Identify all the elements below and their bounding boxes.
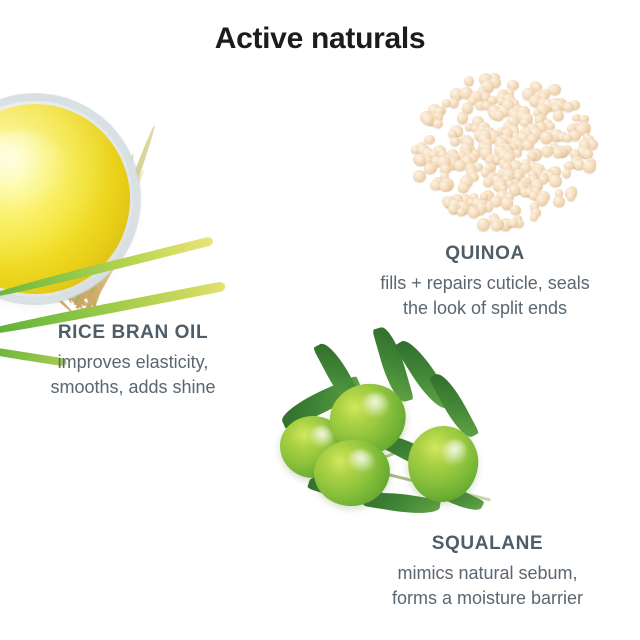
quinoa-seed-icon xyxy=(548,84,561,96)
page-title: Active naturals xyxy=(0,22,640,56)
quinoa-seed-icon xyxy=(464,76,474,85)
quinoa-image xyxy=(405,68,600,233)
quinoa-seed-icon xyxy=(483,177,494,188)
quinoa-seed-icon xyxy=(424,135,434,145)
ingredient-description-line-1: fills + repairs cuticle, seals xyxy=(345,271,625,296)
quinoa-seed-icon xyxy=(540,131,553,144)
quinoa-seed-icon xyxy=(413,170,426,182)
squalane-olive-image xyxy=(268,348,500,534)
quinoa-seed-icon xyxy=(562,169,571,178)
ingredient-description-line-1: mimics natural sebum, xyxy=(345,561,630,586)
ingredient-block-squalane: SQUALANE mimics natural sebum, forms a m… xyxy=(345,533,630,610)
quinoa-seed-icon xyxy=(494,110,504,120)
quinoa-seed-icon xyxy=(553,196,566,208)
ingredient-name-squalane: SQUALANE xyxy=(345,533,630,556)
quinoa-seed-icon xyxy=(510,205,521,215)
quinoa-seed-icon xyxy=(563,102,574,112)
quinoa-seed-icon xyxy=(527,151,537,160)
quinoa-seed-icon xyxy=(541,146,553,157)
quinoa-seed-icon xyxy=(458,182,469,192)
poster-canvas: Active naturals RICE BRAN OIL improves e… xyxy=(0,0,640,640)
ingredient-description-line-2: smooths, adds shine xyxy=(8,375,258,400)
quinoa-seed-icon xyxy=(553,148,563,157)
quinoa-seed-icon xyxy=(583,160,596,174)
quinoa-seed-icon xyxy=(450,137,460,146)
ingredient-description-line-2: forms a moisture barrier xyxy=(345,586,630,611)
ingredient-description-line-2: the look of split ends xyxy=(345,296,625,321)
quinoa-seed-icon xyxy=(457,208,465,216)
ingredient-name-rice-bran-oil: RICE BRAN OIL xyxy=(8,322,258,345)
quinoa-seed-icon xyxy=(439,181,451,191)
quinoa-seed-icon xyxy=(567,193,575,200)
quinoa-seed-icon xyxy=(433,119,443,128)
quinoa-seed-icon xyxy=(549,175,562,187)
quinoa-seed-icon xyxy=(563,134,572,143)
quinoa-seed-icon xyxy=(424,163,436,174)
quinoa-seed-icon xyxy=(477,218,490,231)
rice-bran-oil-image xyxy=(0,48,270,328)
quinoa-seed-icon xyxy=(415,154,426,166)
quinoa-seed-icon xyxy=(468,207,480,219)
quinoa-seed-icon xyxy=(491,221,502,231)
quinoa-seed-icon xyxy=(530,213,538,221)
ingredient-description-line-1: improves elasticity, xyxy=(8,350,258,375)
ingredient-block-rice-bran-oil: RICE BRAN OIL improves elasticity, smoot… xyxy=(8,322,258,399)
quinoa-seed-icon xyxy=(553,110,565,122)
ingredient-block-quinoa: QUINOA fills + repairs cuticle, seals th… xyxy=(345,243,625,320)
ingredient-name-quinoa: QUINOA xyxy=(345,243,625,266)
quinoa-seed-icon xyxy=(509,219,518,227)
